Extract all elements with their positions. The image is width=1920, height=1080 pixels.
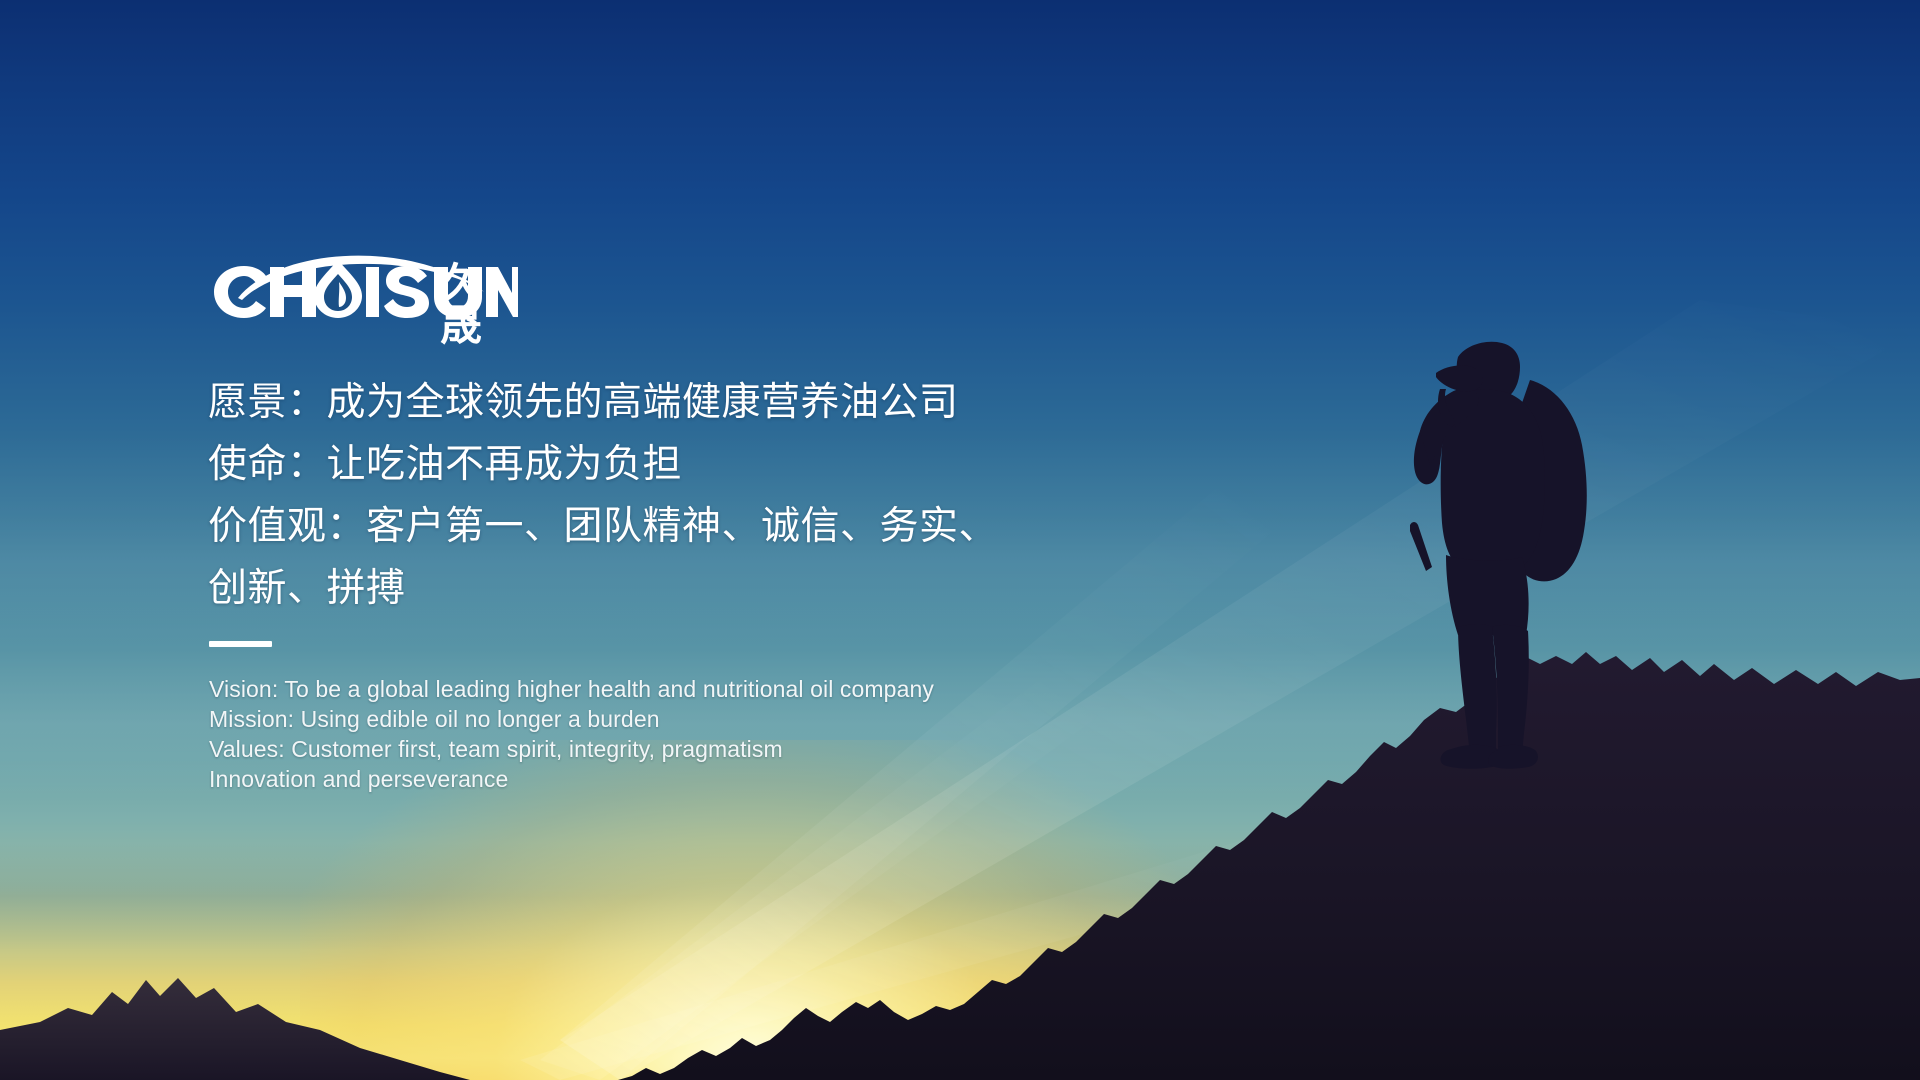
hiker-silhouette	[1380, 335, 1630, 785]
logo-cjk-wordmark: 久晟	[440, 263, 518, 347]
section-divider	[209, 641, 272, 647]
values-line-cn-2: 创新、拼搏	[208, 558, 1208, 620]
mission-line-en: Mission: Using edible oil no longer a bu…	[209, 704, 1109, 734]
logo-letter-c	[214, 266, 266, 318]
values-line-en-1: Values: Customer first, team spirit, int…	[209, 734, 1109, 764]
vision-mission-values-english: Vision: To be a global leading higher he…	[209, 674, 1109, 794]
mission-line-cn: 使命：让吃油不再成为负担	[208, 434, 1208, 496]
slide-canvas: 久晟 愿景：成为全球领先的高端健康营养油公司 使命：让吃油不再成为负担 价值观：…	[0, 0, 1920, 1080]
logo-letter-h	[270, 267, 316, 317]
logo-letter-s	[384, 266, 429, 318]
choisun-logo[interactable]: 久晟	[208, 250, 518, 320]
logo-letter-i	[366, 267, 379, 317]
values-line-cn-1: 价值观：客户第一、团队精神、诚信、务实、	[208, 496, 1208, 558]
vision-line-en: Vision: To be a global leading higher he…	[209, 674, 1109, 704]
vision-line-cn: 愿景：成为全球领先的高端健康营养油公司	[208, 372, 1208, 434]
vision-mission-values-chinese: 愿景：成为全球领先的高端健康营养油公司 使命：让吃油不再成为负担 价值观：客户第…	[208, 372, 1208, 620]
values-line-en-2: Innovation and perseverance	[209, 764, 1109, 794]
